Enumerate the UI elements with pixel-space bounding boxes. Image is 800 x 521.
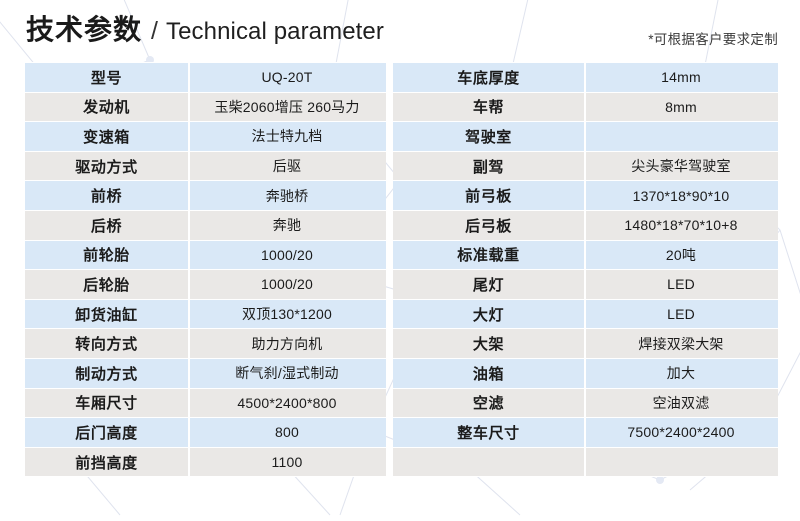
spec-value: 空油双滤 [584,388,778,418]
spec-row: 副驾尖头豪华驾驶室 [393,151,778,181]
spec-row: 前轮胎1000/20 [25,240,386,270]
spec-label: 后弓板 [393,210,584,240]
spec-value: 焊接双梁大架 [584,329,778,359]
spec-label: 尾灯 [393,270,584,300]
spec-value [584,122,778,152]
spec-row: 前弓板1370*18*90*10 [393,181,778,211]
spec-label: 车厢尺寸 [25,388,188,418]
spec-label: 前桥 [25,181,188,211]
spec-label: 转向方式 [25,329,188,359]
spec-row: 大灯LED [393,299,778,329]
spec-table-left-body: 型号UQ-20T发动机玉柴2060增压 260马力变速箱法士特九档驱动方式后驱前… [25,63,386,477]
page-title-english: Technical parameter [166,20,384,44]
spec-label: 卸货油缸 [25,299,188,329]
spec-label: 前挡高度 [25,447,188,477]
spec-label: 车帮 [393,92,584,122]
spec-row: 前挡高度1100 [25,447,386,477]
spec-value: LED [584,299,778,329]
spec-row: 驾驶室 [393,122,778,152]
spec-row: 车厢尺寸4500*2400*800 [25,388,386,418]
customization-note: *可根据客户要求定制 [648,28,778,48]
spec-row: 尾灯LED [393,270,778,300]
spec-label: 驱动方式 [25,151,188,181]
spec-row: 标准载重20吨 [393,240,778,270]
spec-label: 变速箱 [25,122,188,152]
spec-row: 转向方式助力方向机 [25,329,386,359]
spec-value: 奔驰 [188,210,386,240]
spec-value: 法士特九档 [188,122,386,152]
spec-value: 后驱 [188,151,386,181]
spec-sheet-page: 技术参数 / Technical parameter *可根据客户要求定制 型号… [0,0,800,521]
spec-value: 20吨 [584,240,778,270]
spec-row: 后门高度800 [25,418,386,448]
spec-row: 车帮8mm [393,92,778,122]
spec-row: 后桥奔驰 [25,210,386,240]
spec-value: 14mm [584,63,778,93]
spec-label: 前弓板 [393,181,584,211]
spec-value: LED [584,270,778,300]
spec-value: 8mm [584,92,778,122]
spec-label: 油箱 [393,358,584,388]
spec-label: 型号 [25,63,188,93]
spec-label: 大灯 [393,299,584,329]
spec-value: 尖头豪华驾驶室 [584,151,778,181]
spec-value: 加大 [584,358,778,388]
spec-row: 后弓板1480*18*70*10+8 [393,210,778,240]
page-title-chinese: 技术参数 [26,16,142,44]
spec-label: 车底厚度 [393,63,584,93]
spec-label: 标准载重 [393,240,584,270]
spec-value [584,447,778,477]
spec-row: 卸货油缸双顶130*1200 [25,299,386,329]
spec-row: 车底厚度14mm [393,63,778,93]
spec-value: UQ-20T [188,63,386,93]
spec-table-right: 车底厚度14mm车帮8mm驾驶室副驾尖头豪华驾驶室前弓板1370*18*90*1… [393,62,778,477]
spec-label: 前轮胎 [25,240,188,270]
spec-row: 后轮胎1000/20 [25,270,386,300]
spec-value: 1100 [188,447,386,477]
spec-label: 发动机 [25,92,188,122]
spec-value: 7500*2400*2400 [584,418,778,448]
spec-row: 前桥奔驰桥 [25,181,386,211]
spec-label: 驾驶室 [393,122,584,152]
spec-value: 1480*18*70*10+8 [584,210,778,240]
spec-value: 800 [188,418,386,448]
spec-row [393,447,778,477]
spec-row: 型号UQ-20T [25,63,386,93]
spec-value: 1370*18*90*10 [584,181,778,211]
spec-value: 奔驰桥 [188,181,386,211]
spec-label: 制动方式 [25,358,188,388]
spec-row: 变速箱法士特九档 [25,122,386,152]
spec-value: 双顶130*1200 [188,299,386,329]
spec-row: 空滤空油双滤 [393,388,778,418]
spec-row: 整车尺寸7500*2400*2400 [393,418,778,448]
spec-label: 后轮胎 [25,270,188,300]
spec-value: 玉柴2060增压 260马力 [188,92,386,122]
spec-row: 油箱加大 [393,358,778,388]
spec-value: 断气刹/湿式制动 [188,358,386,388]
spec-table-right-body: 车底厚度14mm车帮8mm驾驶室副驾尖头豪华驾驶室前弓板1370*18*90*1… [393,63,778,477]
spec-label: 整车尺寸 [393,418,584,448]
spec-label: 空滤 [393,388,584,418]
spec-label: 大架 [393,329,584,359]
spec-row: 发动机玉柴2060增压 260马力 [25,92,386,122]
spec-row: 大架焊接双梁大架 [393,329,778,359]
page-title: 技术参数 / Technical parameter [26,16,384,44]
spec-value: 1000/20 [188,270,386,300]
spec-label: 副驾 [393,151,584,181]
spec-value: 助力方向机 [188,329,386,359]
spec-value: 4500*2400*800 [188,388,386,418]
spec-row: 制动方式断气刹/湿式制动 [25,358,386,388]
spec-label: 后门高度 [25,418,188,448]
spec-value: 1000/20 [188,240,386,270]
spec-row: 驱动方式后驱 [25,151,386,181]
spec-label: 后桥 [25,210,188,240]
spec-label [393,447,584,477]
page-header: 技术参数 / Technical parameter *可根据客户要求定制 [0,0,800,60]
spec-table-left: 型号UQ-20T发动机玉柴2060增压 260马力变速箱法士特九档驱动方式后驱前… [25,62,386,477]
title-separator: / [151,19,158,44]
